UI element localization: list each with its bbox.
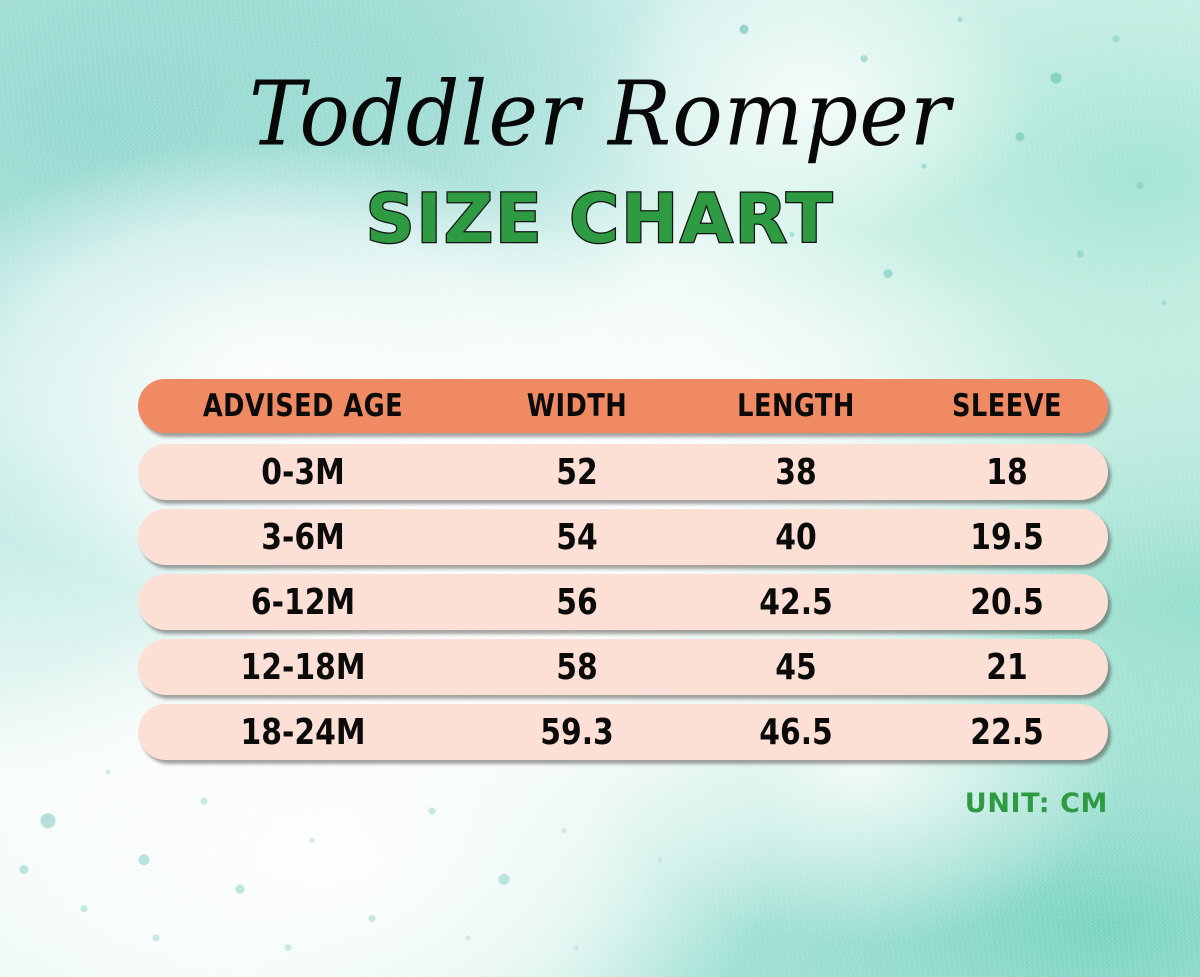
cell-width: 54 <box>477 517 678 558</box>
unit-note: UNIT: CM <box>965 788 1108 819</box>
page-subtitle: SIZE CHART <box>0 186 1200 254</box>
cell-length: 38 <box>695 452 897 493</box>
cell-length: 46.5 <box>695 712 897 753</box>
cell-width: 59.3 <box>477 712 678 753</box>
table-row: 6-12M 56 42.5 20.5 <box>138 574 1108 630</box>
table-row: 18-24M 59.3 46.5 22.5 <box>138 704 1108 760</box>
cell-width: 58 <box>477 647 678 688</box>
table-row: 0-3M 52 38 18 <box>138 444 1108 500</box>
cell-width: 52 <box>477 452 678 493</box>
size-chart-canvas: Toddler Romper SIZE CHART ADVISED AGE WI… <box>0 0 1200 977</box>
title-block: Toddler Romper SIZE CHART <box>0 72 1200 254</box>
size-chart-table: ADVISED AGE WIDTH LENGTH SLEEVE 0-3M 52 … <box>138 379 1108 769</box>
cell-length: 45 <box>695 647 897 688</box>
table-row: 3-6M 54 40 19.5 <box>138 509 1108 565</box>
cell-advised-age: 12-18M <box>151 647 455 688</box>
cell-sleeve: 22.5 <box>914 712 1100 753</box>
column-header-advised-age: ADVISED AGE <box>151 388 455 424</box>
column-header-length: LENGTH <box>695 388 897 424</box>
column-header-sleeve: SLEEVE <box>914 388 1100 424</box>
cell-length: 42.5 <box>695 582 897 623</box>
table-header-row: ADVISED AGE WIDTH LENGTH SLEEVE <box>138 379 1108 433</box>
cell-advised-age: 3-6M <box>151 517 455 558</box>
column-header-width: WIDTH <box>477 388 678 424</box>
cell-width: 56 <box>477 582 678 623</box>
page-title: Toddler Romper <box>0 69 1200 158</box>
cell-sleeve: 18 <box>914 452 1100 493</box>
cell-sleeve: 19.5 <box>914 517 1100 558</box>
cell-advised-age: 18-24M <box>151 712 455 753</box>
table-row: 12-18M 58 45 21 <box>138 639 1108 695</box>
cell-sleeve: 20.5 <box>914 582 1100 623</box>
cell-advised-age: 6-12M <box>151 582 455 623</box>
cell-length: 40 <box>695 517 897 558</box>
cell-sleeve: 21 <box>914 647 1100 688</box>
cell-advised-age: 0-3M <box>151 452 455 493</box>
